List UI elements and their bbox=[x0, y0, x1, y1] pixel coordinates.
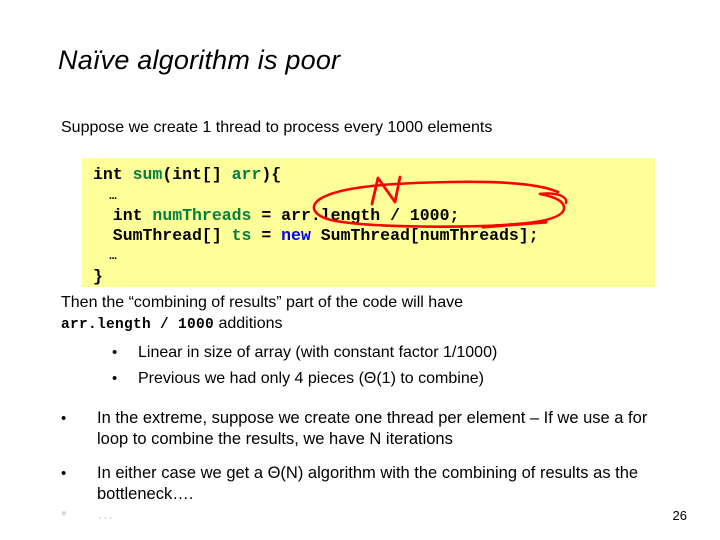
code-token-brace-close: } bbox=[93, 267, 103, 286]
code-token-alloc: SumThread[numThreads]; bbox=[311, 226, 539, 245]
code-token-new: new bbox=[281, 226, 311, 245]
bullet-dot-icon: • bbox=[61, 463, 66, 484]
sub-bullet-label: Linear in size of array (with constant f… bbox=[138, 344, 497, 361]
code-token-params-open: (int[] bbox=[162, 165, 231, 184]
code-block: int sum(int[] arr){ … int numThreads = a… bbox=[82, 158, 655, 287]
code-token-numthreads: numThreads bbox=[152, 206, 251, 225]
code-token-int-2: int bbox=[93, 206, 152, 225]
sub-bullet-previous-4-pieces: •Previous we had only 4 pieces (Θ(1) to … bbox=[112, 370, 484, 388]
code-token-int: int bbox=[93, 165, 133, 184]
slide-page-number: 26 bbox=[673, 508, 687, 523]
page-title: Naïve algorithm is poor bbox=[58, 45, 340, 76]
then-suffix: additions bbox=[214, 315, 283, 332]
code-token-sumthread-arr: SumThread[] bbox=[93, 226, 232, 245]
sub-bullet-linear-in-size: •Linear in size of array (with constant … bbox=[112, 344, 497, 362]
code-token-sum: sum bbox=[133, 165, 163, 184]
then-mono-expression: arr.length / 1000 bbox=[61, 317, 214, 333]
then-expression-line: arr.length / 1000 additions bbox=[61, 315, 283, 333]
main-bullet-extreme-case: • In the extreme, suppose we create one … bbox=[61, 408, 669, 450]
bullet-dot-icon: • bbox=[61, 505, 97, 519]
code-token-ellipsis-1: … bbox=[93, 189, 118, 203]
code-token-ts: ts bbox=[232, 226, 252, 245]
then-sentence: Then the “combining of results” part of … bbox=[61, 294, 463, 312]
sub-bullet-label: Previous we had only 4 pieces (Θ(1) to c… bbox=[138, 370, 484, 387]
lead-sentence: Suppose we create 1 thread to process ev… bbox=[61, 119, 492, 137]
code-token-brace-open: ){ bbox=[261, 165, 281, 184]
code-token-ellipsis-2: … bbox=[93, 249, 118, 263]
bullet-dot-icon: • bbox=[112, 344, 138, 361]
clipped-bullet-label: … bbox=[97, 505, 114, 519]
bullet-dot-icon: • bbox=[112, 370, 138, 387]
main-bullet-label: In either case we get a Θ(N) algorithm w… bbox=[97, 463, 669, 505]
presentation-slide: Naïve algorithm is poor Suppose we creat… bbox=[0, 0, 720, 540]
main-bullet-theta-n: • In either case we get a Θ(N) algorithm… bbox=[61, 463, 669, 505]
main-bullet-label: In the extreme, suppose we create one th… bbox=[97, 408, 669, 450]
code-token-assign: = bbox=[251, 226, 281, 245]
code-token-arr: arr bbox=[232, 165, 262, 184]
clipped-overflow-bullet: •… bbox=[61, 505, 669, 519]
code-listing: int sum(int[] arr){ … int numThreads = a… bbox=[93, 165, 655, 286]
bullet-dot-icon: • bbox=[61, 408, 66, 429]
code-token-division-expr: = arr.length / 1000; bbox=[251, 206, 459, 225]
